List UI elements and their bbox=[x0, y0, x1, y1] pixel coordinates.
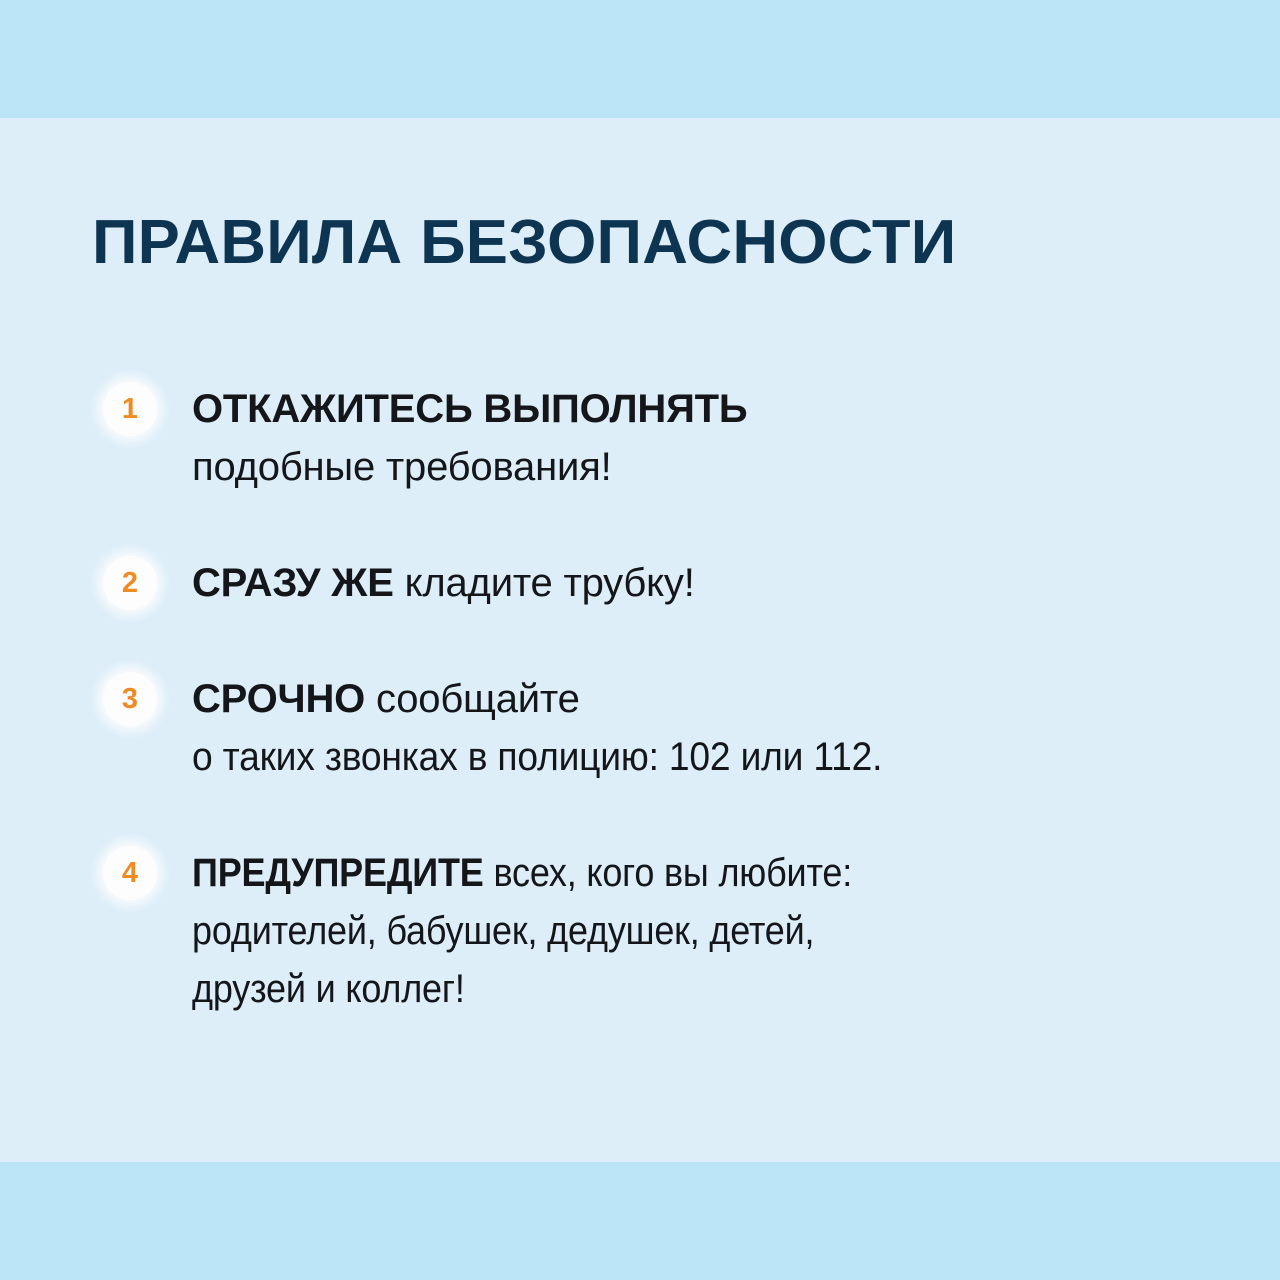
rule-line-normal: друзей и коллег! bbox=[192, 960, 465, 1018]
rule-number-badge: 1 bbox=[103, 382, 157, 436]
safety-rules-poster: ПРАВИЛА БЕЗОПАСНОСТИ 1 ОТКАЖИТЕСЬ ВЫПОЛН… bbox=[0, 0, 1280, 1280]
list-item: 2 СРАЗУ ЖЕ кладите трубку! bbox=[0, 554, 1280, 612]
rule-line: друзей и коллег! bbox=[192, 960, 1220, 1018]
rule-line-strong: ПРЕДУПРЕДИТЕ bbox=[192, 851, 484, 895]
rule-text: ОТКАЖИТЕСЬ ВЫПОЛНЯТЬ подобные требования… bbox=[192, 380, 1220, 496]
rule-line-normal: кладите трубку! bbox=[394, 561, 695, 605]
rule-line-strong: ОТКАЖИТЕСЬ ВЫПОЛНЯТЬ bbox=[192, 387, 747, 431]
page-title: ПРАВИЛА БЕЗОПАСНОСТИ bbox=[92, 212, 956, 274]
list-item: 4 ПРЕДУПРЕДИТЕ всех, кого вы любите: род… bbox=[0, 844, 1280, 1018]
rule-number-label: 4 bbox=[122, 859, 138, 888]
rule-line-normal: всех, кого вы любите: bbox=[484, 851, 852, 895]
content-card: ПРАВИЛА БЕЗОПАСНОСТИ 1 ОТКАЖИТЕСЬ ВЫПОЛН… bbox=[0, 118, 1280, 1162]
rule-line-strong: СРОЧНО bbox=[192, 677, 365, 721]
rule-line: о таких звонках в полицию: 102 или 112. bbox=[192, 728, 1220, 786]
rule-number-badge: 4 bbox=[103, 846, 157, 900]
top-decorative-band bbox=[0, 0, 1280, 118]
rule-number-label: 1 bbox=[122, 395, 138, 424]
rule-number-badge: 3 bbox=[103, 672, 157, 726]
rule-number-label: 3 bbox=[122, 685, 138, 714]
rule-line: родителей, бабушек, дедушек, детей, bbox=[192, 902, 1220, 960]
rule-line-normal: подобные требования! bbox=[192, 445, 612, 489]
rule-line: СРАЗУ ЖЕ кладите трубку! bbox=[192, 554, 1220, 612]
rule-number-badge: 2 bbox=[103, 556, 157, 610]
rule-text: СРАЗУ ЖЕ кладите трубку! bbox=[192, 554, 1220, 612]
rule-line-normal: о таких звонках в полицию: 102 или 112. bbox=[192, 728, 882, 786]
rule-line: ПРЕДУПРЕДИТЕ всех, кого вы любите: bbox=[192, 844, 1220, 902]
list-item: 1 ОТКАЖИТЕСЬ ВЫПОЛНЯТЬ подобные требован… bbox=[0, 380, 1280, 496]
rule-line: подобные требования! bbox=[192, 438, 1220, 496]
rule-line-normal: родителей, бабушек, дедушек, детей, bbox=[192, 902, 814, 960]
rule-line: СРОЧНО сообщайте bbox=[192, 670, 1220, 728]
rule-text: ПРЕДУПРЕДИТЕ всех, кого вы любите: родит… bbox=[192, 844, 1220, 1018]
rule-text: СРОЧНО сообщайте о таких звонках в полиц… bbox=[192, 670, 1220, 786]
rule-number-label: 2 bbox=[122, 569, 138, 598]
rule-line: ОТКАЖИТЕСЬ ВЫПОЛНЯТЬ bbox=[192, 380, 1220, 438]
list-item: 3 СРОЧНО сообщайте о таких звонках в пол… bbox=[0, 670, 1280, 786]
rules-list: 1 ОТКАЖИТЕСЬ ВЫПОЛНЯТЬ подобные требован… bbox=[0, 380, 1280, 1018]
rule-line-wrap: ПРЕДУПРЕДИТЕ всех, кого вы любите: bbox=[192, 844, 852, 902]
rule-line-normal: сообщайте bbox=[365, 677, 580, 721]
rule-line-strong: СРАЗУ ЖЕ bbox=[192, 561, 394, 605]
bottom-decorative-band bbox=[0, 1162, 1280, 1280]
